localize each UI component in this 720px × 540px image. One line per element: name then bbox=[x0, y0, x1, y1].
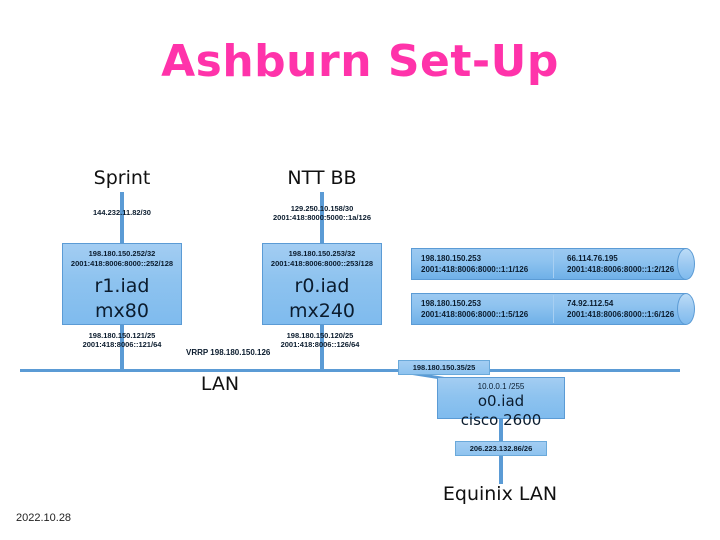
router-r1-loopback-v4: 198.180.150.252/32 bbox=[63, 249, 181, 259]
router-r1-loopback-v6: 2001:418:8006:8000::252/128 bbox=[63, 259, 181, 269]
tunnel-2-local: 198.180.150.253 2001:418:8006:8000::1:5/… bbox=[421, 298, 528, 320]
router-r0-name: r0.iad bbox=[263, 274, 381, 299]
tunnel-cylinder-1[interactable]: 198.180.150.253 2001:418:8006:8000::1:1/… bbox=[411, 248, 686, 280]
page-title: Ashburn Set-Up bbox=[0, 36, 720, 87]
link-label-sprint-v4: 144.232.11.82/30 bbox=[62, 208, 182, 218]
tunnel-1-local-v4: 198.180.150.253 bbox=[421, 253, 528, 264]
tunnel-2-end-cap bbox=[677, 293, 695, 325]
router-r0-loopback-v4: 198.180.150.253/32 bbox=[263, 249, 381, 259]
tunnel-1-divider bbox=[553, 250, 554, 278]
router-o0-iad[interactable]: 10.0.0.1 /255 o0.iad cisco 2600 bbox=[437, 377, 565, 419]
tunnel-2-remote-v4: 74.92.112.54 bbox=[567, 298, 674, 309]
date-stamp: 2022.10.28 bbox=[16, 512, 71, 524]
equinix-lan-label: Equinix LAN bbox=[420, 483, 580, 505]
slide-canvas: Ashburn Set-Up Sprint 144.232.11.82/30 1… bbox=[0, 0, 720, 540]
tunnel-1-end-cap bbox=[677, 248, 695, 280]
router-o0-address: 10.0.0.1 /255 bbox=[438, 381, 564, 392]
tunnel-1-remote-v4: 66.114.76.195 bbox=[567, 253, 674, 264]
lan-bus bbox=[20, 369, 680, 372]
link-label-r1-lan-v6: 2001:418:8006::121/64 bbox=[60, 340, 184, 350]
tunnel-2-local-v6: 2001:418:8006:8000::1:5/126 bbox=[421, 309, 528, 320]
lan-label: LAN bbox=[160, 373, 280, 395]
router-r0-iad[interactable]: 198.180.150.253/32 2001:418:8006:8000::2… bbox=[262, 243, 382, 325]
link-label-ntt-v6: 2001:418:8000:5000::1a/126 bbox=[260, 213, 384, 223]
tunnel-2-remote: 74.92.112.54 2001:418:8006:8000::1:6/126 bbox=[567, 298, 674, 320]
link-tag-o0-uplink: 198.180.150.35/25 bbox=[398, 360, 490, 375]
tunnel-2-local-v4: 198.180.150.253 bbox=[421, 298, 528, 309]
tunnel-2-remote-v6: 2001:418:8006:8000::1:6/126 bbox=[567, 309, 674, 320]
tunnel-1-remote: 66.114.76.195 2001:418:8006:8000::1:2/12… bbox=[567, 253, 674, 275]
link-label-r0-lan-v6: 2001:418:8006::126/64 bbox=[258, 340, 382, 350]
peer-label-ntt: NTT BB bbox=[262, 167, 382, 189]
router-r1-model: mx80 bbox=[63, 299, 181, 324]
router-r1-iad[interactable]: 198.180.150.252/32 2001:418:8006:8000::2… bbox=[62, 243, 182, 325]
tunnel-cylinder-2[interactable]: 198.180.150.253 2001:418:8006:8000::1:5/… bbox=[411, 293, 686, 325]
router-r0-model: mx240 bbox=[263, 299, 381, 324]
router-r1-name: r1.iad bbox=[63, 274, 181, 299]
tunnel-2-divider bbox=[553, 295, 554, 323]
tunnel-1-local: 198.180.150.253 2001:418:8006:8000::1:1/… bbox=[421, 253, 528, 275]
link-tag-equinix: 206.223.132.86/26 bbox=[455, 441, 547, 456]
link-sprint-to-r1 bbox=[120, 192, 124, 244]
peer-label-sprint: Sprint bbox=[62, 167, 182, 189]
tunnel-1-local-v6: 2001:418:8006:8000::1:1/126 bbox=[421, 264, 528, 275]
vrrp-label: VRRP 198.180.150.126 bbox=[186, 348, 270, 357]
router-o0-name: o0.iad bbox=[438, 392, 564, 411]
tunnel-1-remote-v6: 2001:418:8006:8000::1:2/126 bbox=[567, 264, 674, 275]
router-r0-loopback-v6: 2001:418:8006:8000::253/128 bbox=[263, 259, 381, 269]
